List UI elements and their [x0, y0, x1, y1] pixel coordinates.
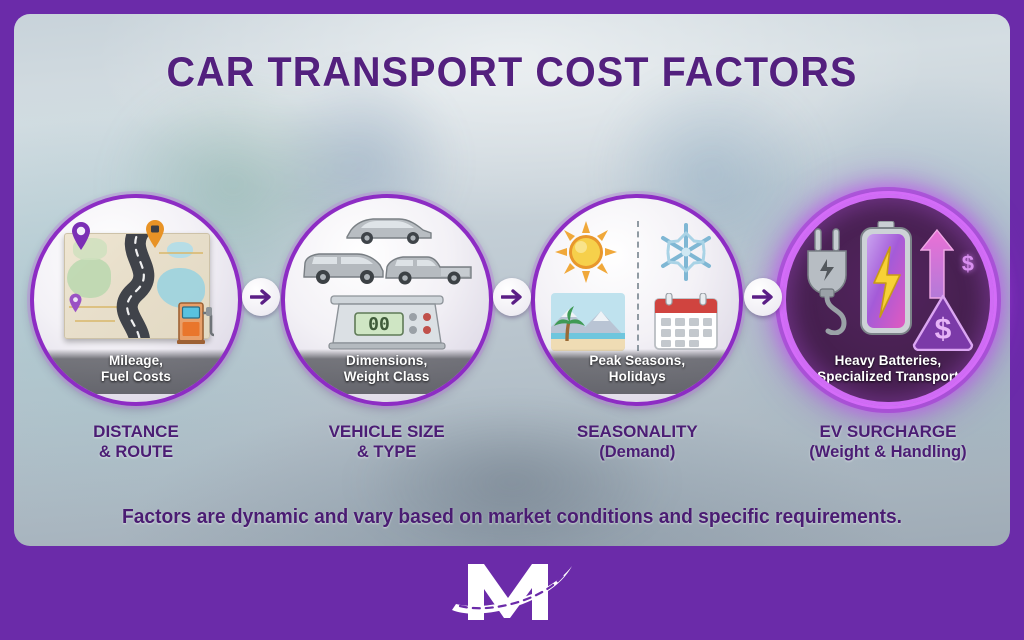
step-label-3: SEASONALITY (Demand) [503, 422, 771, 462]
sedan-icon [343, 213, 435, 247]
caption-line-1: Peak Seasons, [589, 353, 685, 368]
steps-row: Mileage, Fuel Costs DISTANCE & ROUTE [30, 188, 994, 412]
brand-m-highway-logo [446, 556, 578, 624]
location-pin-icon [70, 221, 92, 251]
step-caption-1: Mileage, Fuel Costs [34, 349, 238, 394]
label-line-2: (Demand) [599, 443, 675, 461]
label-line-1: EV SURCHARGE [819, 422, 956, 441]
beach-icon [551, 293, 625, 351]
label-line-1: DISTANCE [93, 422, 179, 441]
step-circle-2[interactable]: 00 Dimensions, Weight Class [281, 194, 493, 406]
step-circle-1[interactable]: Mileage, Fuel Costs [30, 194, 242, 406]
brand-logo [446, 556, 578, 624]
season-divider [637, 221, 639, 351]
arrow-right-icon [250, 288, 272, 306]
ev-surcharge-artwork: $ $ [800, 219, 976, 351]
caption-line-1: Dimensions, [346, 353, 427, 368]
step-caption-2: Dimensions, Weight Class [285, 349, 489, 394]
step-vehicle-size-type[interactable]: 00 Dimensions, Weight Class VEHICLE SIZE… [281, 194, 493, 406]
arrow-right-icon [501, 288, 523, 306]
weighing-scale-icon: 00 [325, 295, 449, 353]
arrow-right-icon [752, 288, 774, 306]
step-label-2: VEHICLE SIZE & TYPE [253, 422, 521, 462]
label-line-2: (Weight & Handling) [809, 443, 966, 461]
suv-icon [301, 249, 387, 287]
dollar-sign-icon: $ [962, 251, 974, 277]
snowflake-icon [655, 221, 717, 283]
step-ev-surcharge[interactable]: $ $ Heavy Batteries, Specialized Transpo… [782, 194, 994, 406]
footer-note: Factors are dynamic and vary based on ma… [20, 506, 1003, 529]
electric-plug-icon [802, 227, 858, 335]
step-label-4: EV SURCHARGE (Weight & Handling) [754, 422, 1022, 462]
waypoint-pin-icon [68, 293, 83, 313]
warning-triangle-icon: $ [912, 293, 974, 351]
caption-line-2: Specialized Transport [817, 369, 959, 384]
step-seasonality[interactable]: Peak Seasons, Holidays SEASONALITY (Dema… [531, 194, 743, 406]
battery-icon [858, 221, 914, 337]
connector-arrow-3 [744, 278, 782, 316]
connector-arrow-1 [242, 278, 280, 316]
step-caption-3: Peak Seasons, Holidays [535, 349, 739, 394]
fuel-pump-icon [176, 297, 216, 345]
connector-arrow-2 [493, 278, 531, 316]
scale-display: 00 [368, 314, 390, 335]
page-title: CAR TRANSPORT COST FACTORS [31, 48, 994, 96]
pickup-truck-icon [383, 251, 475, 287]
step-caption-4: Heavy Batteries, Specialized Transport [786, 349, 990, 388]
label-line-1: VEHICLE SIZE [329, 422, 445, 441]
calendar-icon [653, 293, 719, 351]
svg-text:$: $ [935, 313, 952, 346]
seasonality-artwork [549, 219, 725, 351]
vehicle-size-artwork: 00 [299, 219, 475, 351]
infographic-canvas: CAR TRANSPORT COST FACTORS [0, 0, 1024, 640]
step-circle-3[interactable]: Peak Seasons, Holidays [531, 194, 743, 406]
destination-pin-icon [144, 219, 166, 249]
caption-line-2: Holidays [609, 369, 666, 384]
caption-line-2: Weight Class [344, 369, 430, 384]
sun-icon [555, 221, 617, 283]
caption-line-1: Mileage, [109, 353, 163, 368]
caption-line-1: Heavy Batteries, [835, 353, 942, 368]
step-label-1: DISTANCE & ROUTE [2, 422, 270, 462]
label-line-2: & ROUTE [99, 443, 173, 461]
step-circle-4[interactable]: $ $ Heavy Batteries, Specialized Transpo… [782, 194, 994, 406]
label-line-2: & TYPE [357, 443, 417, 461]
step-distance-route[interactable]: Mileage, Fuel Costs DISTANCE & ROUTE [30, 194, 242, 406]
distance-route-artwork [48, 219, 224, 351]
up-arrow-icon [920, 229, 954, 299]
label-line-1: SEASONALITY [577, 422, 698, 441]
caption-line-2: Fuel Costs [101, 369, 171, 384]
